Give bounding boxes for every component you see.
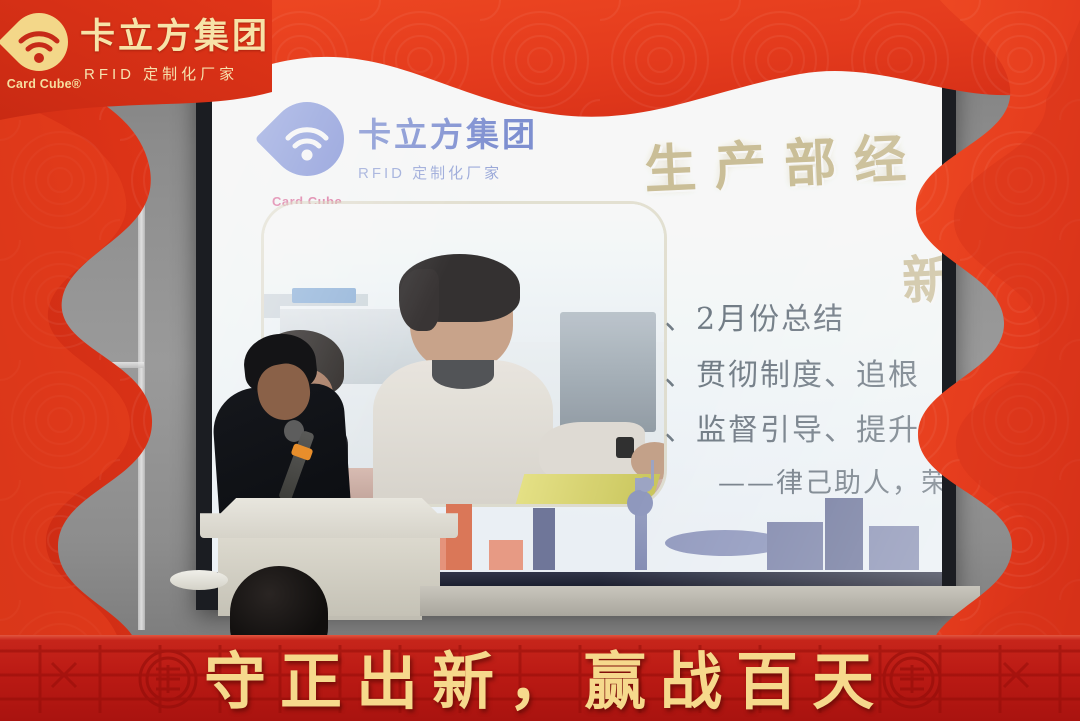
slide-logo: Card Cube 卡立方集团 RFID 定制化厂家 [270,102,538,190]
bottom-slogan-banner: 守正出新，赢战百天 [0,635,1080,721]
conference-room-photo: Card Cube 卡立方集团 RFID 定制化厂家 生产部经 新 一、2月份总… [0,0,1080,721]
table-edge [420,586,980,616]
slide-logo-company: 卡立方集团 [358,108,538,156]
slide-bullet-item: 二、贯彻制度、追根 [632,348,942,404]
card-cube-pin-icon: Card Cube® [6,11,70,93]
slide-bullet-item: 三、监督引导、提升品质 [632,403,942,459]
brand-wordmark: Card Cube® [4,77,84,91]
wifi-icon [270,108,344,182]
slide-bullet-item: 一、2月份总结 [632,292,942,348]
slide-title: 生产部经 [642,116,925,203]
brand-company-name: 卡立方集团 [80,8,270,59]
wifi-icon [6,15,72,81]
rfid-pin-icon: Card Cube [270,102,344,190]
wall-seam-vertical [138,180,145,630]
slogan-text: 守正出新，赢战百天 [0,635,1080,721]
wall-seam-vertical-2 [44,178,49,364]
brand-company-subtitle: RFID 定制化厂家 [80,63,270,84]
slide-logo-subtitle: RFID 定制化厂家 [358,162,538,183]
screenshot-root: Card Cube 卡立方集团 RFID 定制化厂家 生产部经 新 一、2月份总… [0,0,1080,721]
brand-header: Card Cube® 卡立方集团 RFID 定制化厂家 [6,8,270,96]
wall-seam-horizontal [44,362,144,368]
